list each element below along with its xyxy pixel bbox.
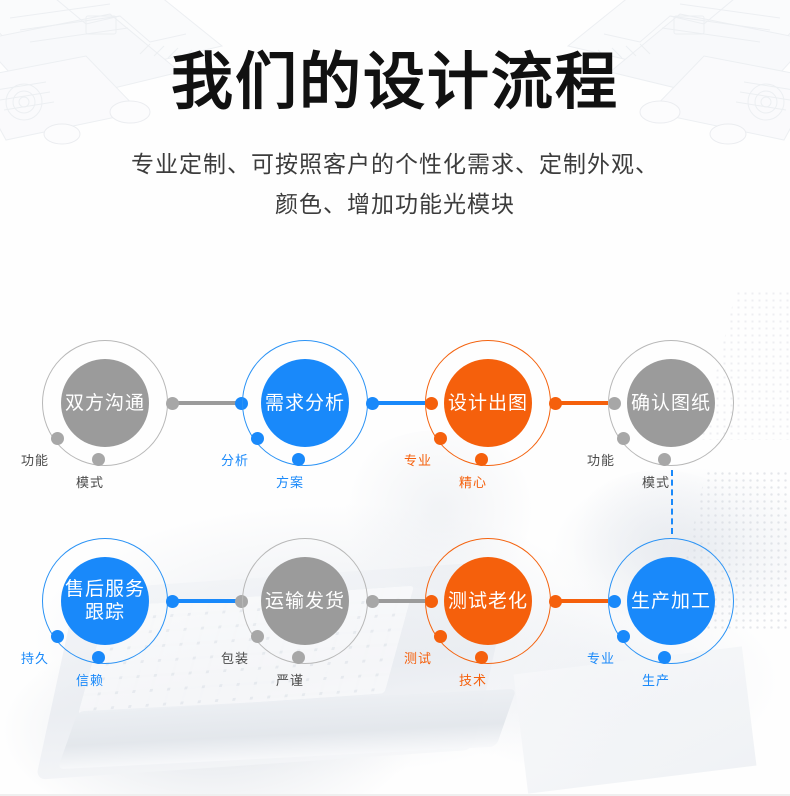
tag-label: 模式 bbox=[642, 472, 670, 491]
process-node-需求分析[interactable]: 需求分析 分析 方案 bbox=[242, 340, 368, 466]
tag-dot-icon bbox=[292, 651, 305, 664]
process-node-生产加工[interactable]: 生产加工 专业 生产 bbox=[608, 538, 734, 664]
tag-dot-icon bbox=[658, 453, 671, 466]
process-node-双方沟通[interactable]: 双方沟通 功能 模式 bbox=[42, 340, 168, 466]
tag-dot-icon bbox=[434, 630, 447, 643]
process-node-售后服务跟踪[interactable]: 售后服务跟踪 持久 信赖 bbox=[42, 538, 168, 664]
tag-label: 持久 bbox=[21, 648, 49, 667]
connector-设计出图-确认图纸 bbox=[555, 401, 615, 405]
connector-dot-left bbox=[549, 397, 562, 410]
design-process-infographic: 我们的设计流程 专业定制、可按照客户的个性化需求、定制外观、 颜色、增加功能光模… bbox=[0, 0, 790, 796]
tag-label: 功能 bbox=[21, 450, 49, 469]
tag-label: 技术 bbox=[459, 670, 487, 689]
tag-label: 模式 bbox=[76, 472, 104, 491]
tag-dot-icon bbox=[292, 453, 305, 466]
page-subtitle: 专业定制、可按照客户的个性化需求、定制外观、 颜色、增加功能光模块 bbox=[0, 144, 790, 224]
node-label: 生产加工 bbox=[627, 557, 715, 645]
process-node-测试老化[interactable]: 测试老化 测试 技术 bbox=[425, 538, 551, 664]
tag-label: 功能 bbox=[587, 450, 615, 469]
tag-dot-icon bbox=[617, 630, 630, 643]
tag-label: 包装 bbox=[221, 648, 249, 667]
process-flow-diagram: 双方沟通 功能 模式 需求分析 分析 bbox=[0, 300, 790, 720]
process-node-设计出图[interactable]: 设计出图 专业 精心 bbox=[425, 340, 551, 466]
process-node-确认图纸[interactable]: 确认图纸 功能 模式 bbox=[608, 340, 734, 466]
connector-dot-left bbox=[549, 595, 562, 608]
connector-生产加工-测试老化 bbox=[555, 599, 615, 603]
process-node-运输发货[interactable]: 运输发货 包装 严谨 bbox=[242, 538, 368, 664]
node-label: 双方沟通 bbox=[61, 359, 149, 447]
node-label: 售后服务跟踪 bbox=[61, 557, 149, 645]
node-label: 运输发货 bbox=[261, 557, 349, 645]
connector-dot-left bbox=[366, 595, 379, 608]
node-label: 确认图纸 bbox=[627, 359, 715, 447]
tag-dot-icon bbox=[251, 432, 264, 445]
process-row-2: 售后服务跟踪 持久 信赖 运输发货 包装 bbox=[0, 516, 790, 716]
connector-dot-left bbox=[166, 397, 179, 410]
tag-dot-icon bbox=[51, 432, 64, 445]
tag-dot-icon bbox=[92, 651, 105, 664]
tag-dot-icon bbox=[475, 651, 488, 664]
page-subtitle-line-2: 颜色、增加功能光模块 bbox=[0, 184, 790, 224]
connector-dot-left bbox=[366, 397, 379, 410]
page-header: 我们的设计流程 专业定制、可按照客户的个性化需求、定制外观、 颜色、增加功能光模… bbox=[0, 0, 790, 224]
tag-label: 专业 bbox=[404, 450, 432, 469]
tag-label: 测试 bbox=[404, 648, 432, 667]
tag-dot-icon bbox=[475, 453, 488, 466]
node-label: 测试老化 bbox=[444, 557, 532, 645]
tag-label: 方案 bbox=[276, 472, 304, 491]
tag-dot-icon bbox=[617, 432, 630, 445]
connector-双方沟通-需求分析 bbox=[172, 401, 242, 405]
tag-label: 专业 bbox=[587, 648, 615, 667]
tag-label: 严谨 bbox=[276, 670, 304, 689]
connector-运输发货-售后服务跟踪 bbox=[172, 599, 242, 603]
tag-dot-icon bbox=[51, 630, 64, 643]
node-label: 设计出图 bbox=[444, 359, 532, 447]
tag-label: 生产 bbox=[642, 670, 670, 689]
connector-需求分析-设计出图 bbox=[372, 401, 432, 405]
tag-label: 分析 bbox=[221, 450, 249, 469]
connector-dot-left bbox=[166, 595, 179, 608]
node-label: 需求分析 bbox=[261, 359, 349, 447]
tag-label: 精心 bbox=[459, 472, 487, 491]
tag-dot-icon bbox=[658, 651, 671, 664]
connector-测试老化-运输发货 bbox=[372, 599, 432, 603]
tag-dot-icon bbox=[92, 453, 105, 466]
tag-dot-icon bbox=[251, 630, 264, 643]
page-subtitle-line-1: 专业定制、可按照客户的个性化需求、定制外观、 bbox=[0, 144, 790, 184]
page-title: 我们的设计流程 bbox=[0, 52, 790, 114]
tag-label: 信赖 bbox=[76, 670, 104, 689]
tag-dot-icon bbox=[434, 432, 447, 445]
